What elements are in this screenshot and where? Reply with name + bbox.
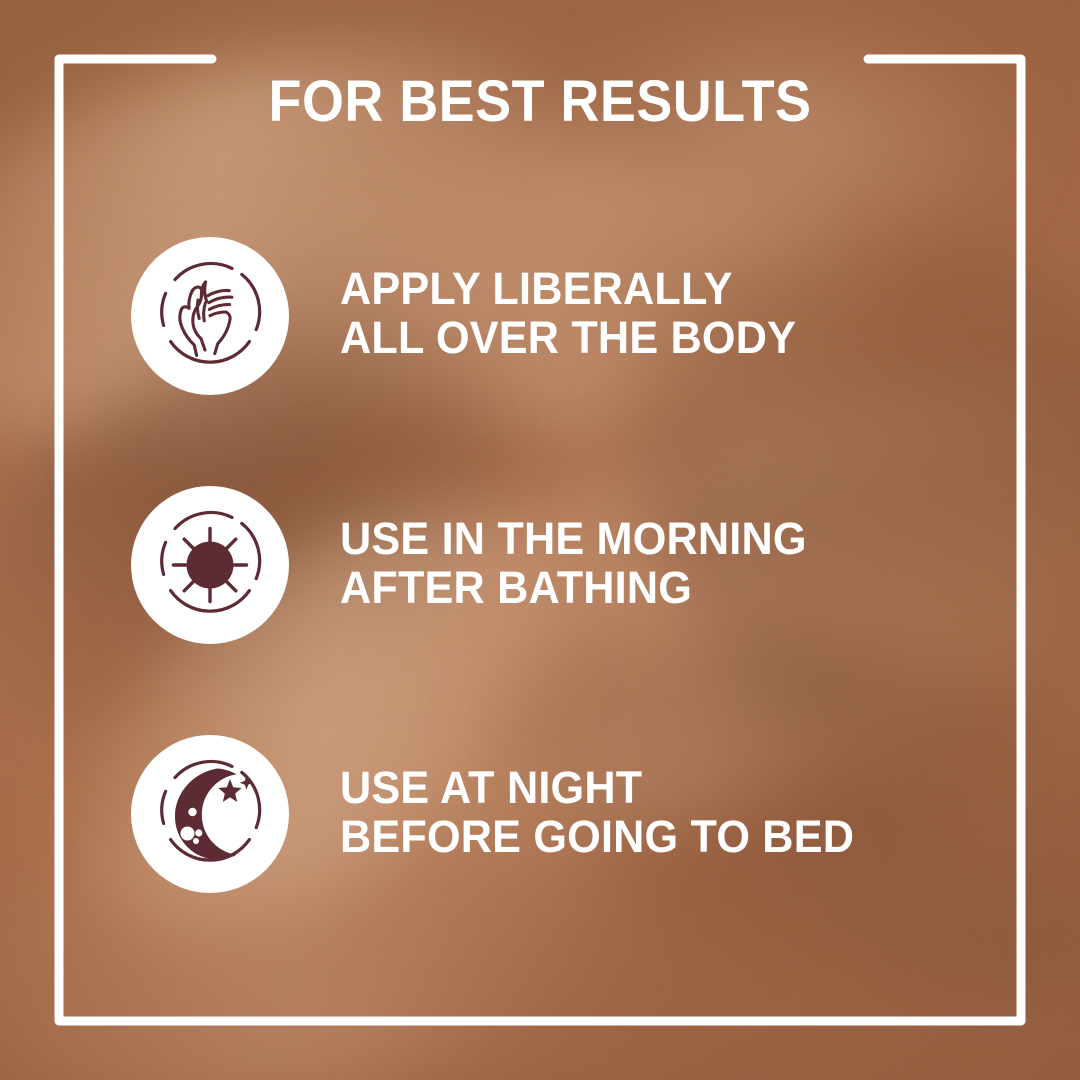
list-item: APPLY LIBERALLY ALL OVER THE BODY	[131, 196, 1011, 436]
promo-graphic: FOR BEST RESULTS	[0, 0, 1080, 1080]
crescent-moon-stars-icon	[146, 750, 274, 878]
page-title: FOR BEST RESULTS	[38, 73, 1042, 131]
list-item-line-1: APPLY LIBERALLY	[340, 265, 796, 314]
icon-badge	[131, 486, 289, 644]
list-item-text: USE AT NIGHT BEFORE GOING TO BED	[340, 764, 854, 861]
list-item-line-2: ALL OVER THE BODY	[340, 314, 796, 363]
list-item-line-2: AFTER BATHING	[340, 564, 807, 613]
sun-icon	[146, 501, 274, 629]
list-item-line-1: USE IN THE MORNING	[340, 515, 807, 564]
list-item-line-1: USE AT NIGHT	[340, 764, 854, 813]
hands-applying-lotion-icon	[146, 252, 274, 380]
list-item-line-2: BEFORE GOING TO BED	[340, 813, 854, 862]
list-item: USE IN THE MORNING AFTER BATHING	[131, 445, 1011, 685]
list-item-text: APPLY LIBERALLY ALL OVER THE BODY	[340, 265, 796, 362]
instruction-list: APPLY LIBERALLY ALL OVER THE BODY	[131, 196, 1011, 934]
icon-badge	[131, 735, 289, 893]
list-item-text: USE IN THE MORNING AFTER BATHING	[340, 515, 807, 612]
list-item: USE AT NIGHT BEFORE GOING TO BED	[131, 694, 1011, 934]
icon-badge	[131, 237, 289, 395]
